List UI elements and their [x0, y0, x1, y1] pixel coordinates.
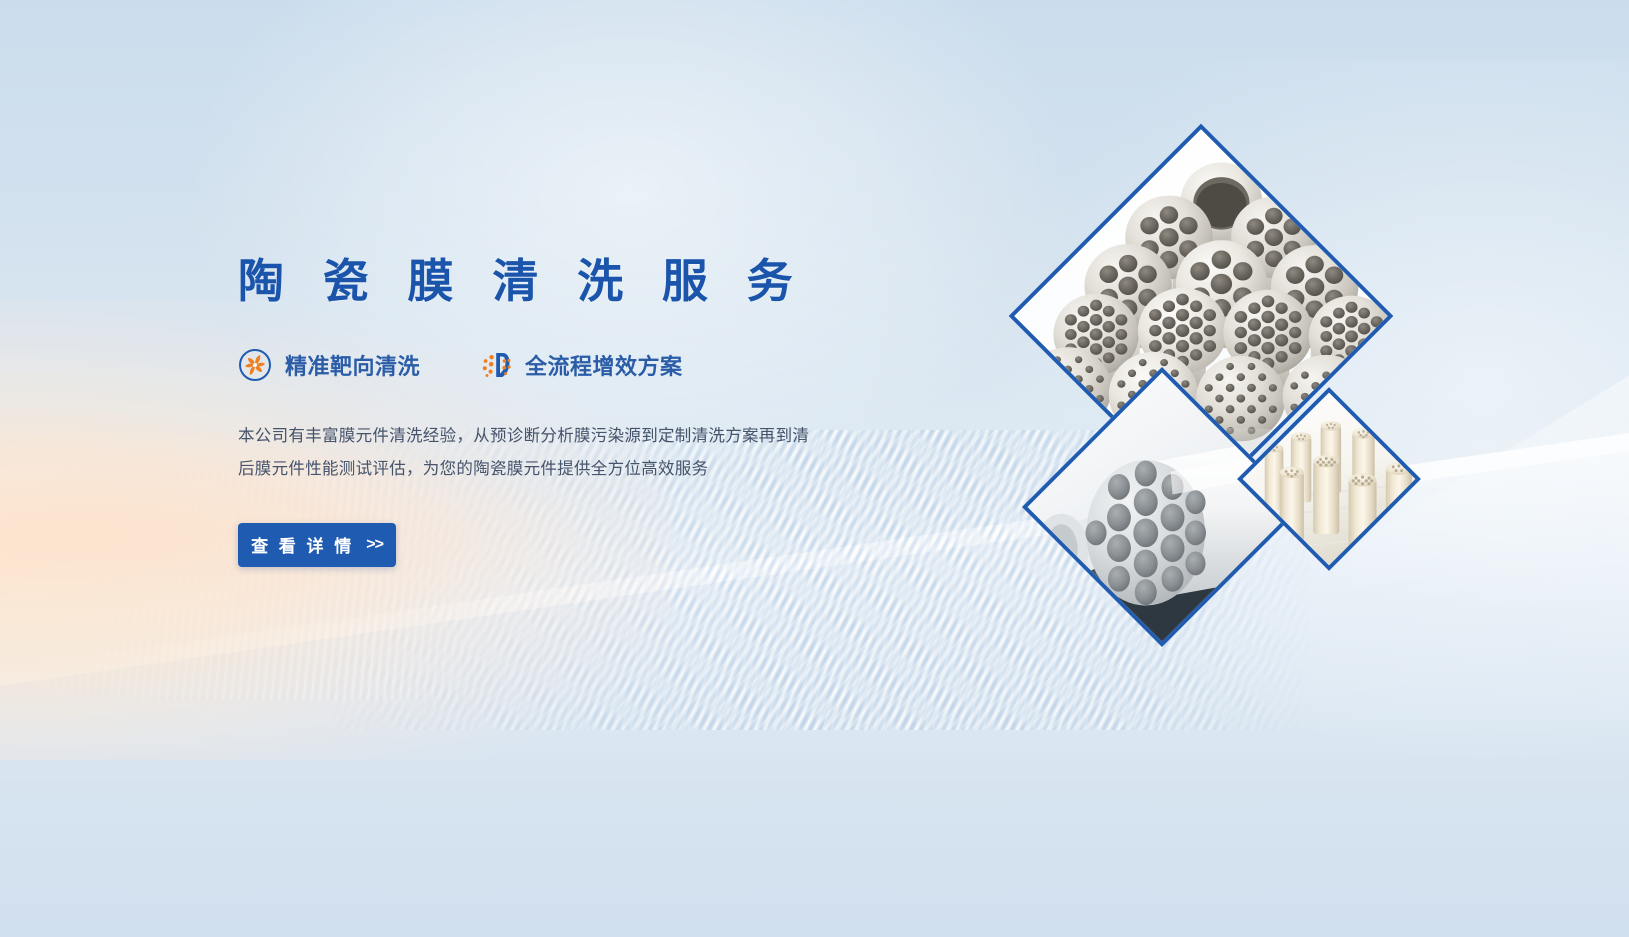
flow-dots-icon: [478, 348, 512, 382]
hero-banner: 陶 瓷 膜 清 洗 服 务: [0, 0, 1629, 937]
feature-item-precision: 精准靶向清洗: [238, 348, 420, 382]
pinwheel-icon: [238, 348, 272, 382]
hero-description-line-2: 后膜元件性能测试评估，为您的陶瓷膜元件提供全方位高效服务: [238, 453, 903, 486]
feature-label-precision: 精准靶向清洗: [285, 349, 420, 381]
feature-label-fullprocess: 全流程增效方案: [525, 349, 683, 381]
page-title: 陶 瓷 膜 清 洗 服 务: [238, 255, 938, 308]
hero-description-line-1: 本公司有丰富膜元件清洗经验，从预诊断分析膜污染源到定制清洗方案再到清: [238, 420, 903, 453]
feature-item-fullprocess: 全流程增效方案: [478, 348, 683, 382]
hero-content: 陶 瓷 膜 清 洗 服 务: [238, 255, 938, 567]
product-image-cluster: [1010, 150, 1490, 670]
hero-description: 本公司有丰富膜元件清洗经验，从预诊断分析膜污染源到定制清洗方案再到清 后膜元件性…: [238, 420, 903, 486]
chevron-double-right-icon: >>: [366, 536, 383, 554]
feature-list: 精准靶向清洗: [238, 348, 938, 382]
view-details-button[interactable]: 查 看 详 情 >>: [238, 523, 396, 567]
view-details-label: 查 看 详 情: [251, 532, 354, 557]
